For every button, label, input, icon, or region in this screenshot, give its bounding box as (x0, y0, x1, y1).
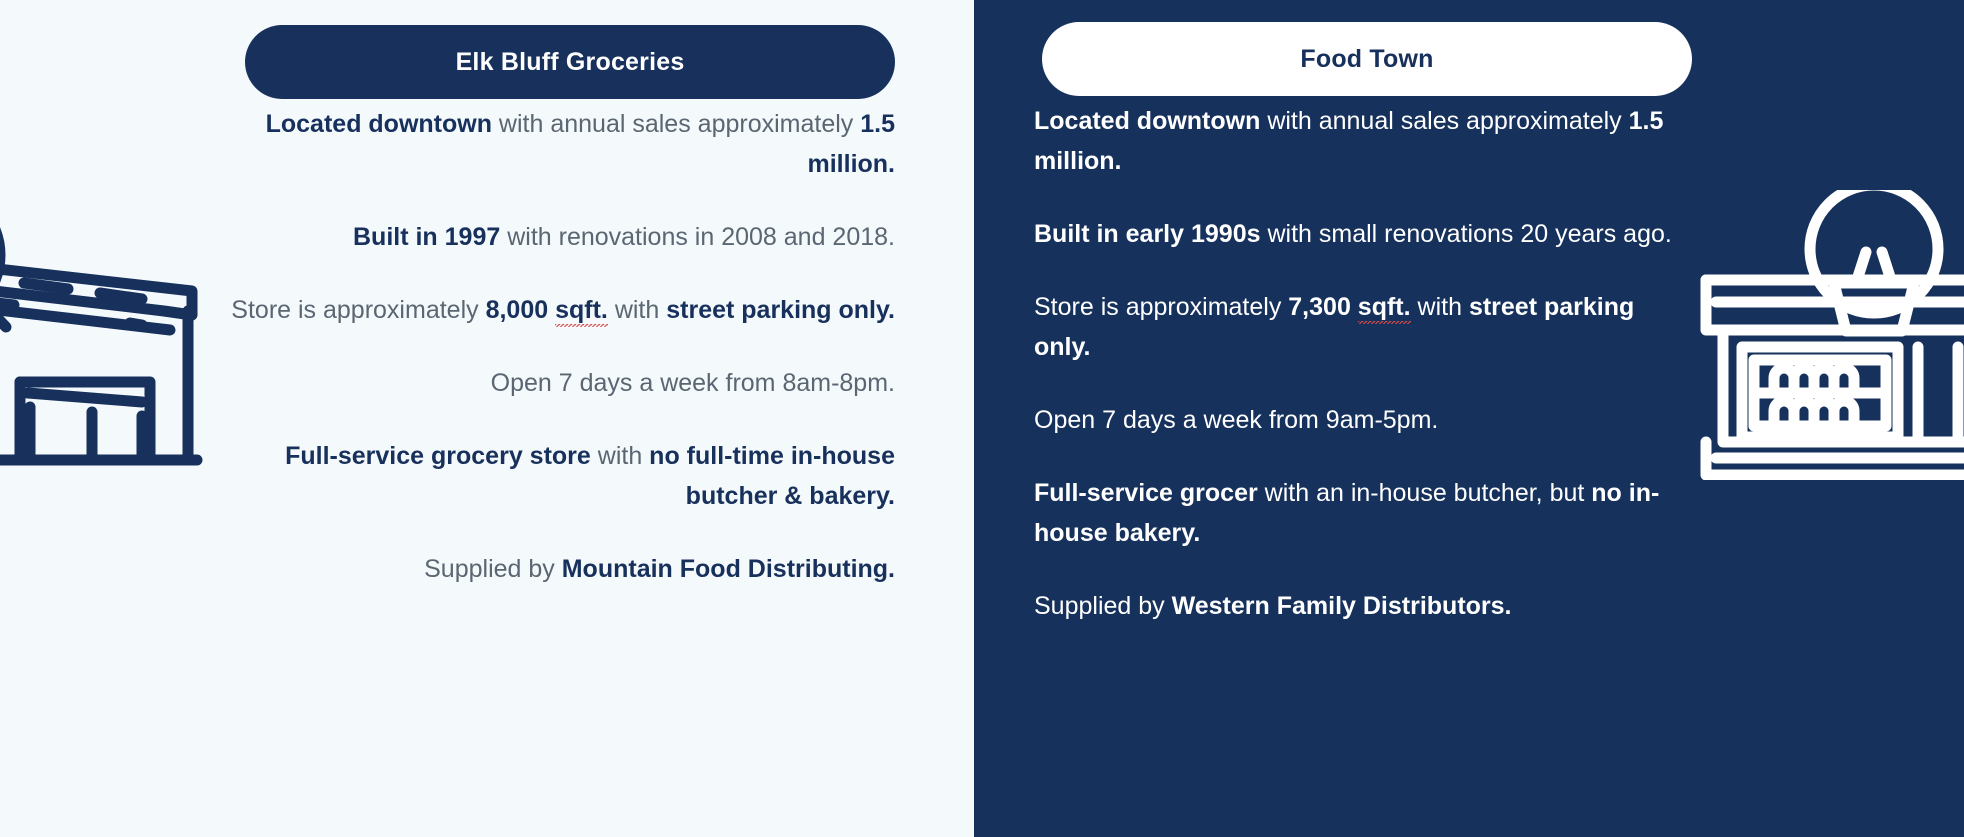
emphasis-text: Full-service grocer (1034, 479, 1258, 507)
body-text: with annual sales approximately (492, 110, 860, 138)
left-store-description: Located downtown with annual sales appro… (200, 104, 895, 622)
emphasis-text: Western Family Distributors. (1172, 592, 1512, 620)
emphasis-text: Built in early 1990s (1034, 220, 1261, 248)
description-paragraph: Supplied by Mountain Food Distributing. (200, 549, 895, 589)
description-paragraph: Store is approximately 8,000 sqft. with … (200, 290, 895, 330)
body-text: Store is approximately (1034, 293, 1288, 321)
emphasis-text: street parking only. (666, 296, 895, 324)
body-text: Open 7 days a week from 9am-5pm. (1034, 406, 1438, 434)
emphasis-text: Mountain Food Distributing. (562, 555, 895, 583)
description-paragraph: Store is approximately 7,300 sqft. with … (1034, 287, 1674, 367)
left-store-panel: Elk Bluff Groceries Located downtown wit… (0, 0, 974, 837)
description-paragraph: Open 7 days a week from 8am-8pm. (200, 363, 895, 403)
right-store-description: Located downtown with annual sales appro… (1034, 101, 1674, 659)
emphasis-text: Full-service grocery store (285, 442, 591, 470)
description-paragraph: Built in 1997 with renovations in 2008 a… (200, 217, 895, 257)
spellcheck-flagged-word: sqft. (1358, 293, 1411, 325)
spellcheck-flagged-word: sqft. (555, 296, 608, 328)
body-text: with (1411, 293, 1469, 321)
description-paragraph: Supplied by Western Family Distributors. (1034, 586, 1674, 626)
left-store-title: Elk Bluff Groceries (456, 48, 685, 77)
body-text: Open 7 days a week from 8am-8pm. (491, 369, 895, 397)
body-text: with (591, 442, 649, 470)
description-paragraph: Located downtown with annual sales appro… (200, 104, 895, 184)
body-text: Supplied by (424, 555, 562, 583)
body-text: with annual sales approximately (1260, 107, 1628, 135)
left-store-title-pill[interactable]: Elk Bluff Groceries (245, 25, 895, 99)
right-store-title: Food Town (1300, 45, 1433, 74)
description-paragraph: Full-service grocery store with no full-… (200, 436, 895, 516)
store-comparison-board: Elk Bluff Groceries Located downtown wit… (0, 0, 1964, 837)
body-text: with renovations in 2008 and 2018. (500, 223, 895, 251)
body-text: with an in-house butcher, but (1258, 479, 1592, 507)
body-text: Supplied by (1034, 592, 1172, 620)
body-text: Store is approximately (231, 296, 485, 324)
description-paragraph: Full-service grocer with an in-house but… (1034, 473, 1674, 553)
description-paragraph: Built in early 1990s with small renovati… (1034, 214, 1674, 254)
description-paragraph: Open 7 days a week from 9am-5pm. (1034, 400, 1674, 440)
emphasis-text: Built in 1997 (353, 223, 500, 251)
right-store-title-pill[interactable]: Food Town (1042, 22, 1692, 96)
emphasis-text: Located downtown (266, 110, 492, 138)
emphasis-text: 7,300 (1288, 293, 1358, 321)
body-text: with small renovations 20 years ago. (1261, 220, 1672, 248)
body-text: with (608, 296, 666, 324)
emphasis-text: no full-time in-house butcher & bakery. (649, 442, 895, 510)
description-paragraph: Located downtown with annual sales appro… (1034, 101, 1674, 181)
storefront-with-shopping-cart-badge-icon (0, 183, 232, 473)
emphasis-text: 8,000 (486, 296, 556, 324)
emphasis-text: Located downtown (1034, 107, 1260, 135)
storefront-with-basket-badge-icon (1666, 190, 1964, 480)
right-store-panel: Food Town Located downtown with annual s… (974, 0, 1964, 837)
